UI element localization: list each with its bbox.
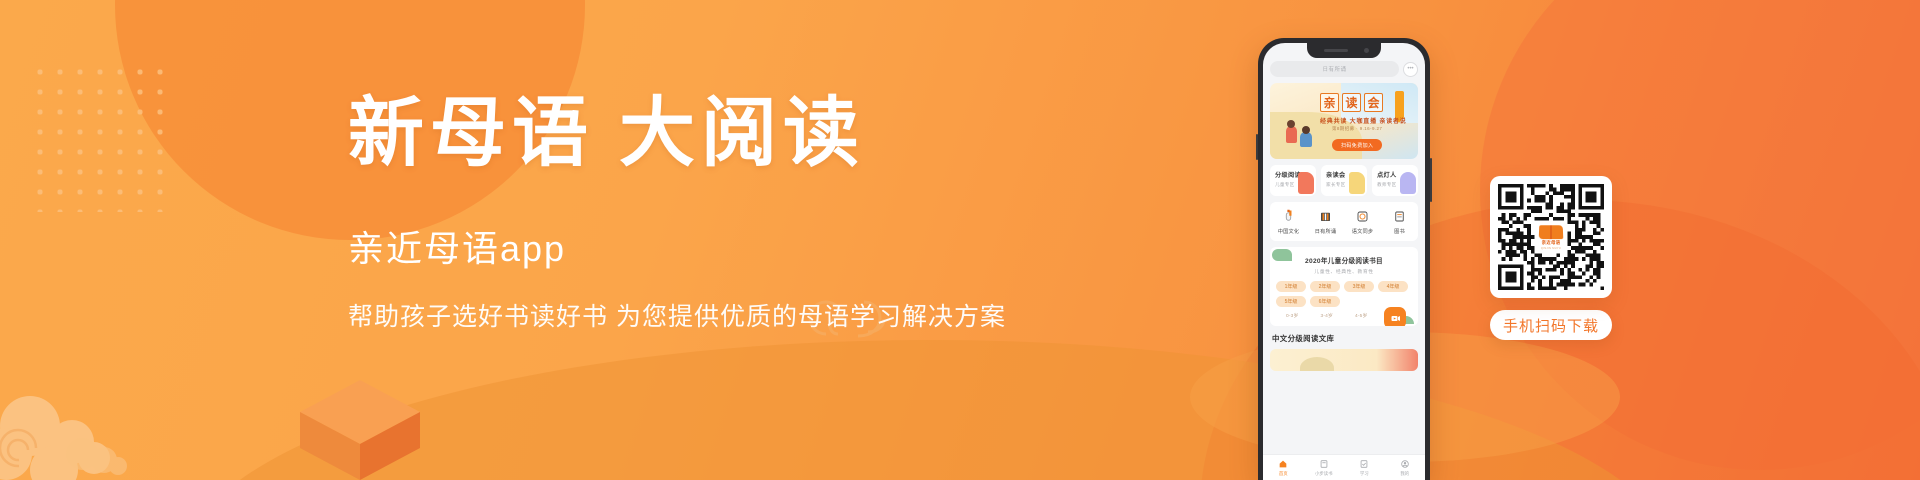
decor-dot-grid	[30, 62, 170, 212]
hero-date: 第8期招募 · 9.16-9.27	[1332, 126, 1382, 132]
hero-cta-button[interactable]: 扫码免费加入	[1332, 139, 1382, 151]
hero-char-1: 亲	[1320, 93, 1339, 112]
booklist-card: 2020年儿童分级阅读书目 儿童性、经典性、教育性 1年级 2年级 3年级 4年…	[1270, 247, 1418, 326]
category-cards: 分级阅读 儿童专区 亲读会 家长专区 点灯人 教师专区	[1263, 159, 1425, 196]
home-icon	[1278, 459, 1288, 469]
reading-icon	[1319, 459, 1329, 469]
promo-banner: 新母语 大阅读 亲近母语app 帮助孩子选好书读好书 为您提供优质的母语学习解决…	[0, 0, 1920, 480]
copy-block: 新母语 大阅读 亲近母语app 帮助孩子选好书读好书 为您提供优质的母语学习解决…	[348, 86, 1028, 334]
logo-subtitle: QINJIN MUYU	[1541, 247, 1561, 250]
lantern-icon	[1281, 209, 1296, 224]
grade-button[interactable]: 2年级	[1310, 281, 1340, 292]
page-description: 帮助孩子选好书读好书 为您提供优质的母语学习解决方案	[348, 300, 1028, 334]
cloud-icon	[0, 384, 134, 480]
books-icon	[1392, 209, 1407, 224]
leaf-icon	[1272, 249, 1292, 261]
qr-code: 亲近母语 QINJIN MUYU	[1490, 176, 1612, 298]
booklist-subtitle: 儿童性、经典性、教育性	[1276, 268, 1412, 275]
library-section-title: 中文分级阅读文库	[1272, 333, 1416, 344]
bookmark-icon	[1298, 172, 1314, 194]
quick-nav-item-culture[interactable]: 中国文化	[1270, 209, 1307, 235]
book-logo-icon	[1539, 225, 1564, 239]
tab-reading[interactable]: 小步读书	[1304, 459, 1345, 477]
search-input[interactable]: 日有所诵	[1270, 61, 1399, 77]
hero-tags: 经典共读 大咖直播 亲读者说	[1320, 116, 1407, 125]
hero-title: 亲 读 会	[1320, 93, 1383, 112]
age-label[interactable]: 3-4岁	[1313, 312, 1342, 319]
app-search-row: 日有所诵 •••	[1263, 61, 1425, 77]
grade-button[interactable]: 3年级	[1344, 281, 1374, 292]
cloud-small-icon	[60, 428, 130, 476]
age-label[interactable]: 4-5岁	[1347, 312, 1376, 319]
category-card-graded-reading[interactable]: 分级阅读 儿童专区	[1270, 165, 1316, 196]
video-play-button[interactable]	[1384, 307, 1406, 326]
library-card[interactable]	[1270, 349, 1418, 371]
grade-button[interactable]: 4年级	[1378, 281, 1408, 292]
hero-char-2: 读	[1342, 93, 1361, 112]
quick-nav-item-recite[interactable]: 日有所诵	[1307, 209, 1344, 235]
bottom-tab-bar: 首页 小步读书 学习	[1263, 454, 1425, 480]
person-icon	[1400, 172, 1416, 194]
clipboard-icon	[1359, 459, 1369, 469]
sync-icon	[1355, 209, 1370, 224]
app-name: 亲近母语app	[348, 226, 1028, 272]
download-button[interactable]: 手机扫码下载	[1490, 310, 1612, 340]
hero-banner-card[interactable]: 亲 读 会 经典共读 大咖直播 亲读者说 第8期招募 · 9.16-9.27 扫…	[1270, 83, 1418, 159]
tab-study[interactable]: 学习	[1344, 459, 1385, 477]
quick-nav-label: 中国文化	[1278, 228, 1300, 235]
phone-notch	[1307, 43, 1381, 58]
user-icon	[1400, 459, 1410, 469]
quick-nav-label: 图书	[1394, 228, 1405, 235]
age-label[interactable]: 0-3岁	[1278, 312, 1307, 319]
grade-button[interactable]: 1年级	[1276, 281, 1306, 292]
quick-nav-item-sync[interactable]: 语文同步	[1344, 209, 1381, 235]
ellipsis-icon[interactable]: •••	[1403, 62, 1418, 77]
tab-profile[interactable]: 我的	[1385, 459, 1426, 477]
category-card-parent-reading[interactable]: 亲读会 家长专区	[1321, 165, 1367, 196]
quick-nav-item-books[interactable]: 图书	[1381, 209, 1418, 235]
page-title: 新母语 大阅读	[348, 86, 1028, 182]
grade-buttons: 1年级 2年级 3年级 4年级 5年级 6年级	[1276, 281, 1412, 307]
hero-flag-icon	[1395, 91, 1404, 119]
phone-screen: 日有所诵 ••• 亲 读 会 经典共读 大咖直播 亲读者说 第8期招募 · 9.…	[1263, 43, 1425, 480]
booklist-title: 2020年儿童分级阅读书目	[1276, 255, 1412, 265]
tab-label: 学习	[1360, 471, 1369, 477]
phone-mockup: 日有所诵 ••• 亲 读 会 经典共读 大咖直播 亲读者说 第8期招募 · 9.…	[1258, 38, 1430, 480]
grade-button[interactable]: 6年级	[1310, 296, 1340, 307]
tab-label: 首页	[1279, 471, 1288, 477]
grade-button[interactable]: 5年级	[1276, 296, 1306, 307]
qr-section: 亲近母语 QINJIN MUYU 手机扫码下载	[1490, 176, 1612, 340]
category-card-teacher[interactable]: 点灯人 教师专区	[1372, 165, 1418, 196]
page-icon	[1349, 172, 1365, 194]
tab-home[interactable]: 首页	[1263, 459, 1304, 477]
tab-label: 小步读书	[1315, 471, 1333, 477]
logo-title: 亲近母语	[1542, 240, 1561, 246]
brand-logo: 亲近母语 QINJIN MUYU	[1535, 221, 1567, 253]
book-stack-icon	[1318, 209, 1333, 224]
video-play-icon	[1390, 313, 1401, 324]
hero-char-3: 会	[1364, 93, 1383, 112]
decor-cube	[300, 372, 420, 480]
decor-hill	[180, 340, 1680, 480]
quick-nav-label: 语文同步	[1352, 228, 1374, 235]
quick-nav: 中国文化 日有所诵 语文同步	[1270, 202, 1418, 241]
quick-nav-label: 日有所诵	[1315, 228, 1337, 235]
tab-label: 我的	[1400, 471, 1409, 477]
